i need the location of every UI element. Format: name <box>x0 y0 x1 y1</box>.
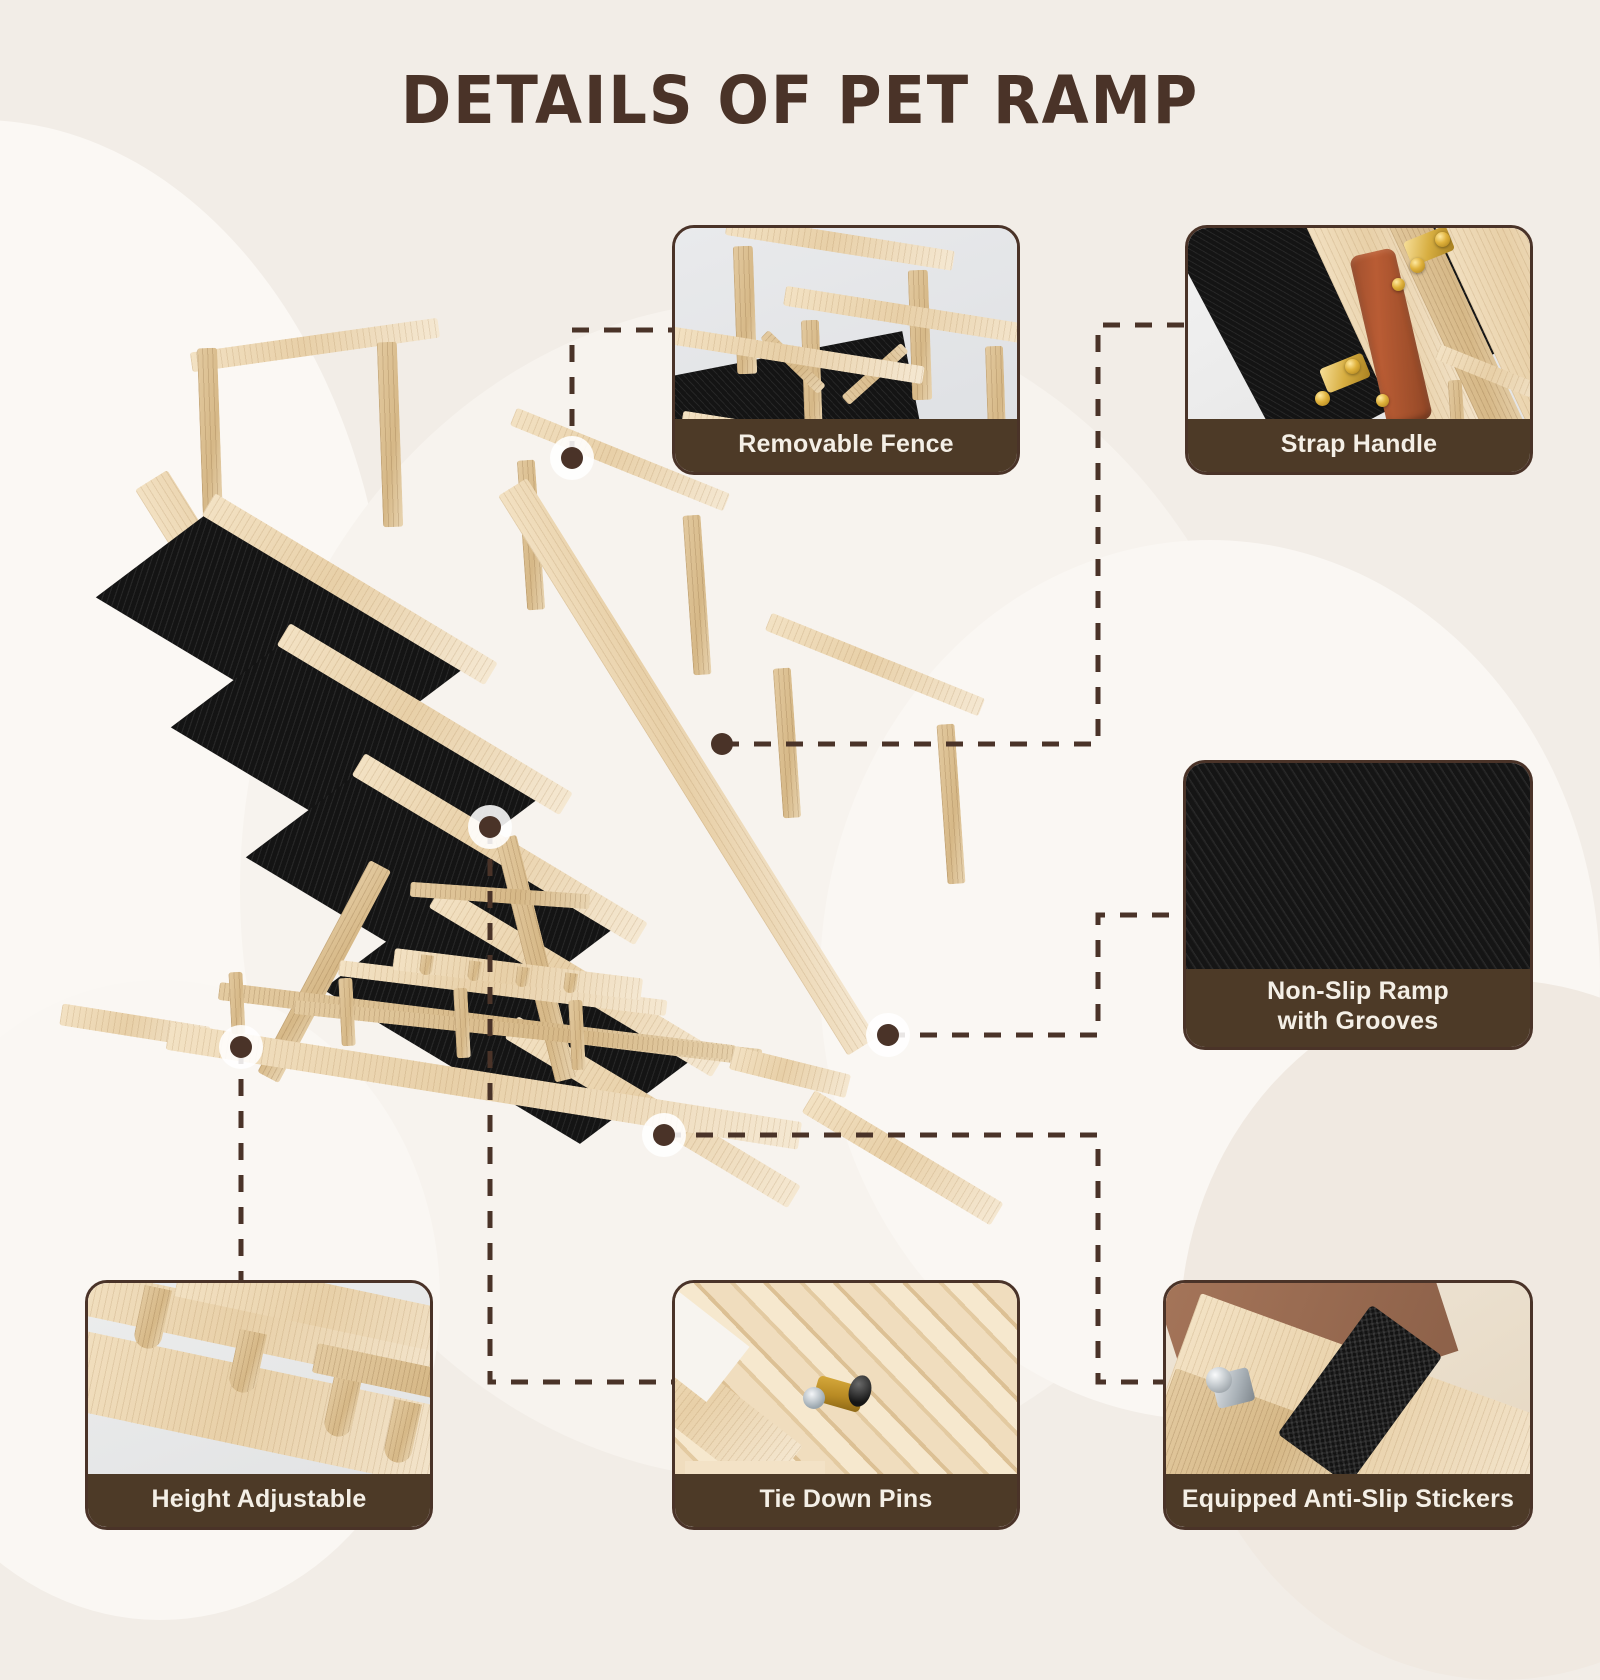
card-label-strap-handle: Strap Handle <box>1188 419 1530 473</box>
photo-height-adjustable <box>88 1283 430 1474</box>
photo-tie-down-pins <box>675 1283 1017 1474</box>
card-label-anti-slip-stickers: Equipped Anti-Slip Stickers <box>1166 1474 1530 1528</box>
photo-removable-fence <box>675 228 1017 419</box>
feature-card-strap-handle[interactable]: Strap Handle <box>1185 225 1533 475</box>
feature-card-height-adjustable[interactable]: Height Adjustable <box>85 1280 433 1530</box>
photo-non-slip-ramp <box>1186 763 1530 969</box>
photo-strap-handle <box>1188 228 1530 419</box>
card-label-height-adjustable: Height Adjustable <box>88 1474 430 1528</box>
feature-card-removable-fence[interactable]: Removable Fence <box>672 225 1020 475</box>
card-label-removable-fence: Removable Fence <box>675 419 1017 473</box>
feature-card-tie-down-pins[interactable]: Tie Down Pins <box>672 1280 1020 1530</box>
card-label-tie-down-pins: Tie Down Pins <box>675 1474 1017 1528</box>
feature-card-anti-slip-stickers[interactable]: Equipped Anti-Slip Stickers <box>1163 1280 1533 1530</box>
card-label-non-slip-ramp: Non-Slip Ramp with Grooves <box>1186 969 1530 1047</box>
infographic-stage: DETAILS OF PET RAMP <box>0 0 1600 1600</box>
photo-anti-slip-stickers <box>1166 1283 1530 1474</box>
feature-card-non-slip-ramp[interactable]: Non-Slip Ramp with Grooves <box>1183 760 1533 1050</box>
